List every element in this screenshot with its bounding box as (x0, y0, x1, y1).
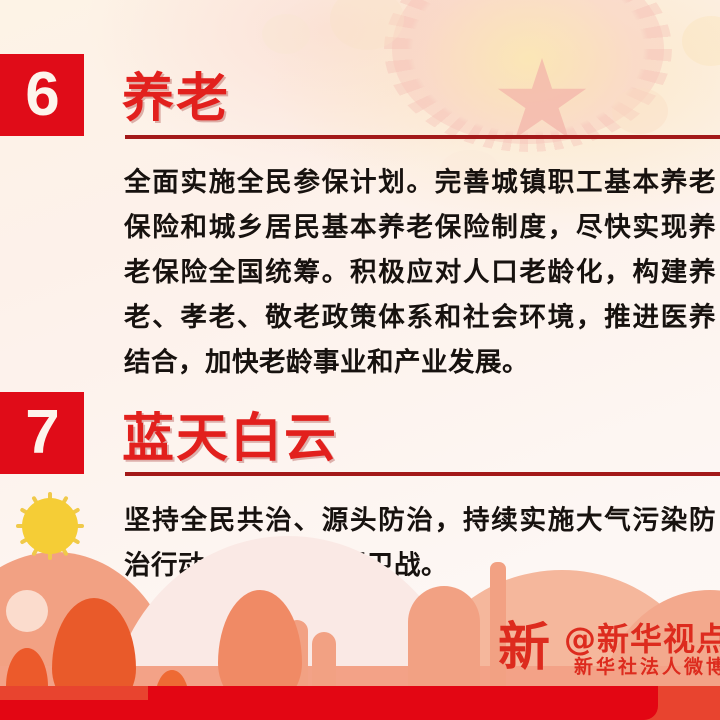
sun-icon (22, 498, 78, 554)
section-number-6: 6 (25, 64, 58, 126)
section-title-7: 蓝天白云 (122, 396, 338, 471)
moon-dot-icon (6, 590, 48, 632)
section-body-6: 全面实施全民参保计划。完善城镇职工基本养老保险和城乡居民基本养老保险制度，尽快实… (124, 160, 716, 385)
section-number-7: 7 (25, 402, 58, 464)
bottom-bar-accent (196, 700, 516, 720)
background-blob (612, 88, 668, 134)
watermark-logo: 新 @新华视点 新华社法人微博 (498, 612, 712, 686)
watermark-subtitle: 新华社法人微博 (574, 652, 720, 679)
section-number-badge-6: 6 (0, 54, 84, 136)
section-divider-6 (125, 135, 720, 139)
xinhua-mark-icon: 新 (498, 618, 568, 680)
background-blob (262, 14, 310, 54)
section-number-badge-7: 7 (0, 392, 84, 474)
poster-canvas: 6 养老 全面实施全民参保计划。完善城镇职工基本养老保险和城乡居民基本养老保险制… (0, 0, 720, 720)
background-blob (682, 16, 720, 66)
section-title-6: 养老 (122, 56, 230, 131)
